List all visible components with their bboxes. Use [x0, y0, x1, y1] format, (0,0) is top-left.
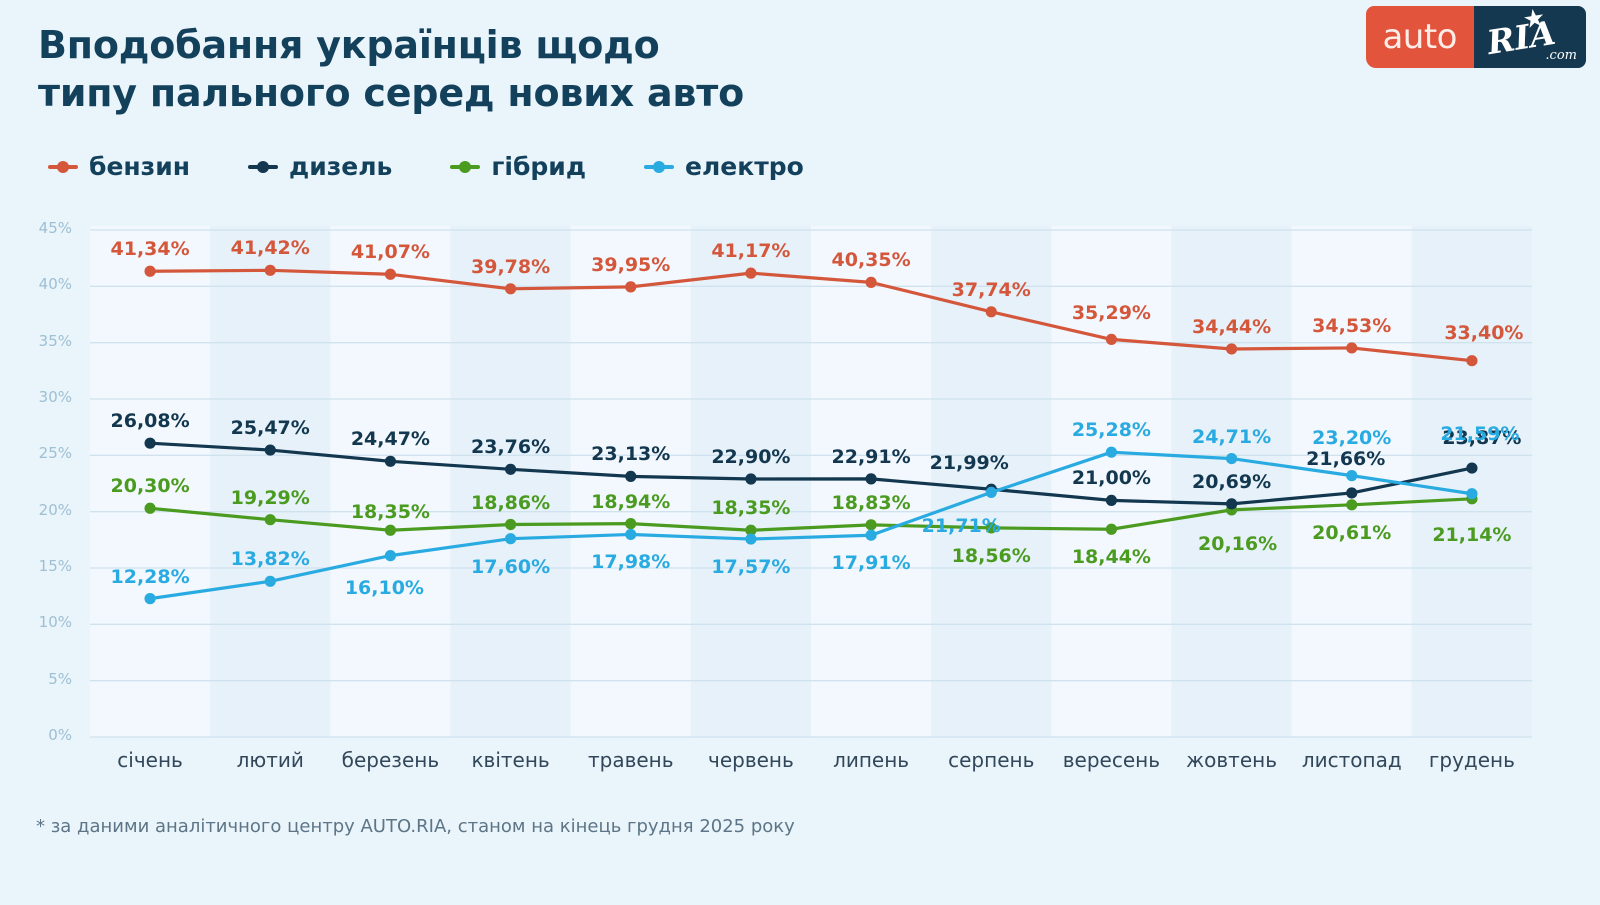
- line-dot-icon: [248, 160, 278, 174]
- data-label-дизель-5: 22,90%: [681, 446, 821, 468]
- data-label-гібрид-0: 20,30%: [80, 475, 220, 497]
- data-label-електро-3: 17,60%: [441, 556, 581, 578]
- legend-item-undefined[interactable]: гібрид: [450, 152, 586, 181]
- data-label-дизель-3: 23,76%: [441, 436, 581, 458]
- data-label-дизель-7: 21,99%: [899, 452, 1039, 474]
- data-label-електро-0: 12,28%: [80, 566, 220, 588]
- data-label-електро-2: 16,10%: [314, 577, 454, 599]
- x-axis-tick-1: лютий: [180, 748, 360, 772]
- data-label-бензин-6: 40,35%: [801, 249, 941, 271]
- data-label-електро-11: 21,59%: [1410, 423, 1550, 445]
- line-chart: 0%5%10%15%20%25%30%35%40%45%січеньлютийб…: [0, 0, 1600, 900]
- data-label-бензин-0: 41,34%: [80, 238, 220, 260]
- data-label-електро-7: 21,71%: [891, 515, 1031, 537]
- data-label-бензин-8: 35,29%: [1041, 302, 1181, 324]
- data-label-електро-8: 25,28%: [1041, 419, 1181, 441]
- y-axis-tick: 40%: [12, 275, 72, 293]
- series-бензин: [144, 265, 1477, 367]
- data-label-бензин-1: 41,42%: [200, 237, 340, 259]
- data-label-дизель-1: 25,47%: [200, 417, 340, 439]
- chart-legend: бензиндизельгібриделектро: [48, 152, 862, 181]
- data-label-дизель-8: 21,00%: [1041, 467, 1181, 489]
- legend-item-label: гібрид: [491, 152, 586, 181]
- data-label-дизель-10: 21,66%: [1276, 448, 1416, 470]
- data-label-електро-4: 17,98%: [561, 551, 701, 573]
- x-axis-tick-10: листопад: [1262, 748, 1442, 772]
- x-axis-tick-4: травень: [541, 748, 721, 772]
- y-axis-tick: 35%: [12, 332, 72, 350]
- data-label-бензин-9: 34,44%: [1162, 316, 1302, 338]
- x-axis-tick-9: жовтень: [1142, 748, 1322, 772]
- data-label-гібрид-3: 18,86%: [441, 492, 581, 514]
- column-bands: [90, 226, 1532, 737]
- x-axis-tick-0: січень: [60, 748, 240, 772]
- data-label-гібрид-2: 18,35%: [320, 501, 460, 523]
- line-dot-icon: [450, 160, 480, 174]
- data-label-дизель-9: 20,69%: [1162, 471, 1302, 493]
- y-axis-tick: 10%: [12, 613, 72, 631]
- data-label-бензин-7: 37,74%: [921, 279, 1061, 301]
- y-axis-tick: 0%: [12, 726, 72, 744]
- line-dot-icon: [48, 160, 78, 174]
- data-label-дизель-6: 22,91%: [801, 446, 941, 468]
- logo-auto-text: auto: [1366, 6, 1474, 68]
- data-label-гібрид-9: 20,16%: [1168, 533, 1308, 555]
- data-label-електро-9: 24,71%: [1162, 426, 1302, 448]
- x-axis-tick-8: вересень: [1021, 748, 1201, 772]
- x-axis-tick-6: липень: [781, 748, 961, 772]
- y-axis-tick: 5%: [12, 670, 72, 688]
- series-гібрид: [144, 493, 1477, 536]
- y-axis-tick: 20%: [12, 501, 72, 519]
- data-label-дизель-0: 26,08%: [80, 410, 220, 432]
- data-label-гібрид-6: 18,83%: [801, 492, 941, 514]
- data-label-бензин-2: 41,07%: [320, 241, 460, 263]
- y-axis-tick: 15%: [12, 557, 72, 575]
- data-label-електро-1: 13,82%: [200, 548, 340, 570]
- x-axis-tick-3: квітень: [421, 748, 601, 772]
- brand-logo[interactable]: auto ★ RIA .com: [1366, 6, 1586, 68]
- data-label-дизель-2: 24,47%: [320, 428, 460, 450]
- series-дизель: [144, 438, 1477, 510]
- data-label-гібрид-1: 19,29%: [200, 487, 340, 509]
- x-axis-tick-2: березень: [300, 748, 480, 772]
- data-label-бензин-5: 41,17%: [681, 240, 821, 262]
- data-label-гібрид-11: 21,14%: [1402, 524, 1542, 546]
- line-dot-icon: [644, 160, 674, 174]
- data-label-електро-10: 23,20%: [1282, 427, 1422, 449]
- legend-item-label: бензин: [89, 152, 190, 181]
- logo-ria-box: ★ RIA .com: [1474, 6, 1586, 68]
- y-axis-tick: 25%: [12, 444, 72, 462]
- y-axis-tick: 45%: [12, 219, 72, 237]
- series-електро: [144, 447, 1477, 605]
- y-axis-tick: 30%: [12, 388, 72, 406]
- data-label-електро-5: 17,57%: [681, 556, 821, 578]
- gridlines: [90, 230, 1532, 737]
- footnote: * за даними аналітичного центру AUTO.RIA…: [36, 816, 795, 837]
- data-label-гібрид-10: 20,61%: [1282, 522, 1422, 544]
- data-label-бензин-4: 39,95%: [561, 254, 701, 276]
- legend-item-undefined[interactable]: електро: [644, 152, 804, 181]
- data-label-гібрид-5: 18,35%: [681, 497, 821, 519]
- legend-item-label: дизель: [289, 152, 392, 181]
- legend-item-label: електро: [685, 152, 804, 181]
- legend-item-undefined[interactable]: бензин: [48, 152, 190, 181]
- data-label-дизель-4: 23,13%: [561, 443, 701, 465]
- x-axis-tick-5: червень: [661, 748, 841, 772]
- chart-canvas: [0, 0, 1600, 900]
- x-axis-tick-11: грудень: [1382, 748, 1562, 772]
- legend-item-undefined[interactable]: дизель: [248, 152, 392, 181]
- data-label-гібрид-7: 18,56%: [921, 545, 1061, 567]
- data-label-гібрид-8: 18,44%: [1041, 546, 1181, 568]
- page-title: Вподобання українців щодо типу пального …: [38, 22, 744, 117]
- data-label-електро-6: 17,91%: [801, 552, 941, 574]
- data-label-бензин-10: 34,53%: [1282, 315, 1422, 337]
- x-axis-tick-7: серпень: [901, 748, 1081, 772]
- data-label-дизель-11: 23,87%: [1412, 427, 1552, 449]
- data-label-бензин-11: 33,40%: [1414, 322, 1554, 344]
- data-label-бензин-3: 39,78%: [441, 256, 581, 278]
- data-label-гібрид-4: 18,94%: [561, 491, 701, 513]
- logo-com-text: .com: [1545, 48, 1577, 63]
